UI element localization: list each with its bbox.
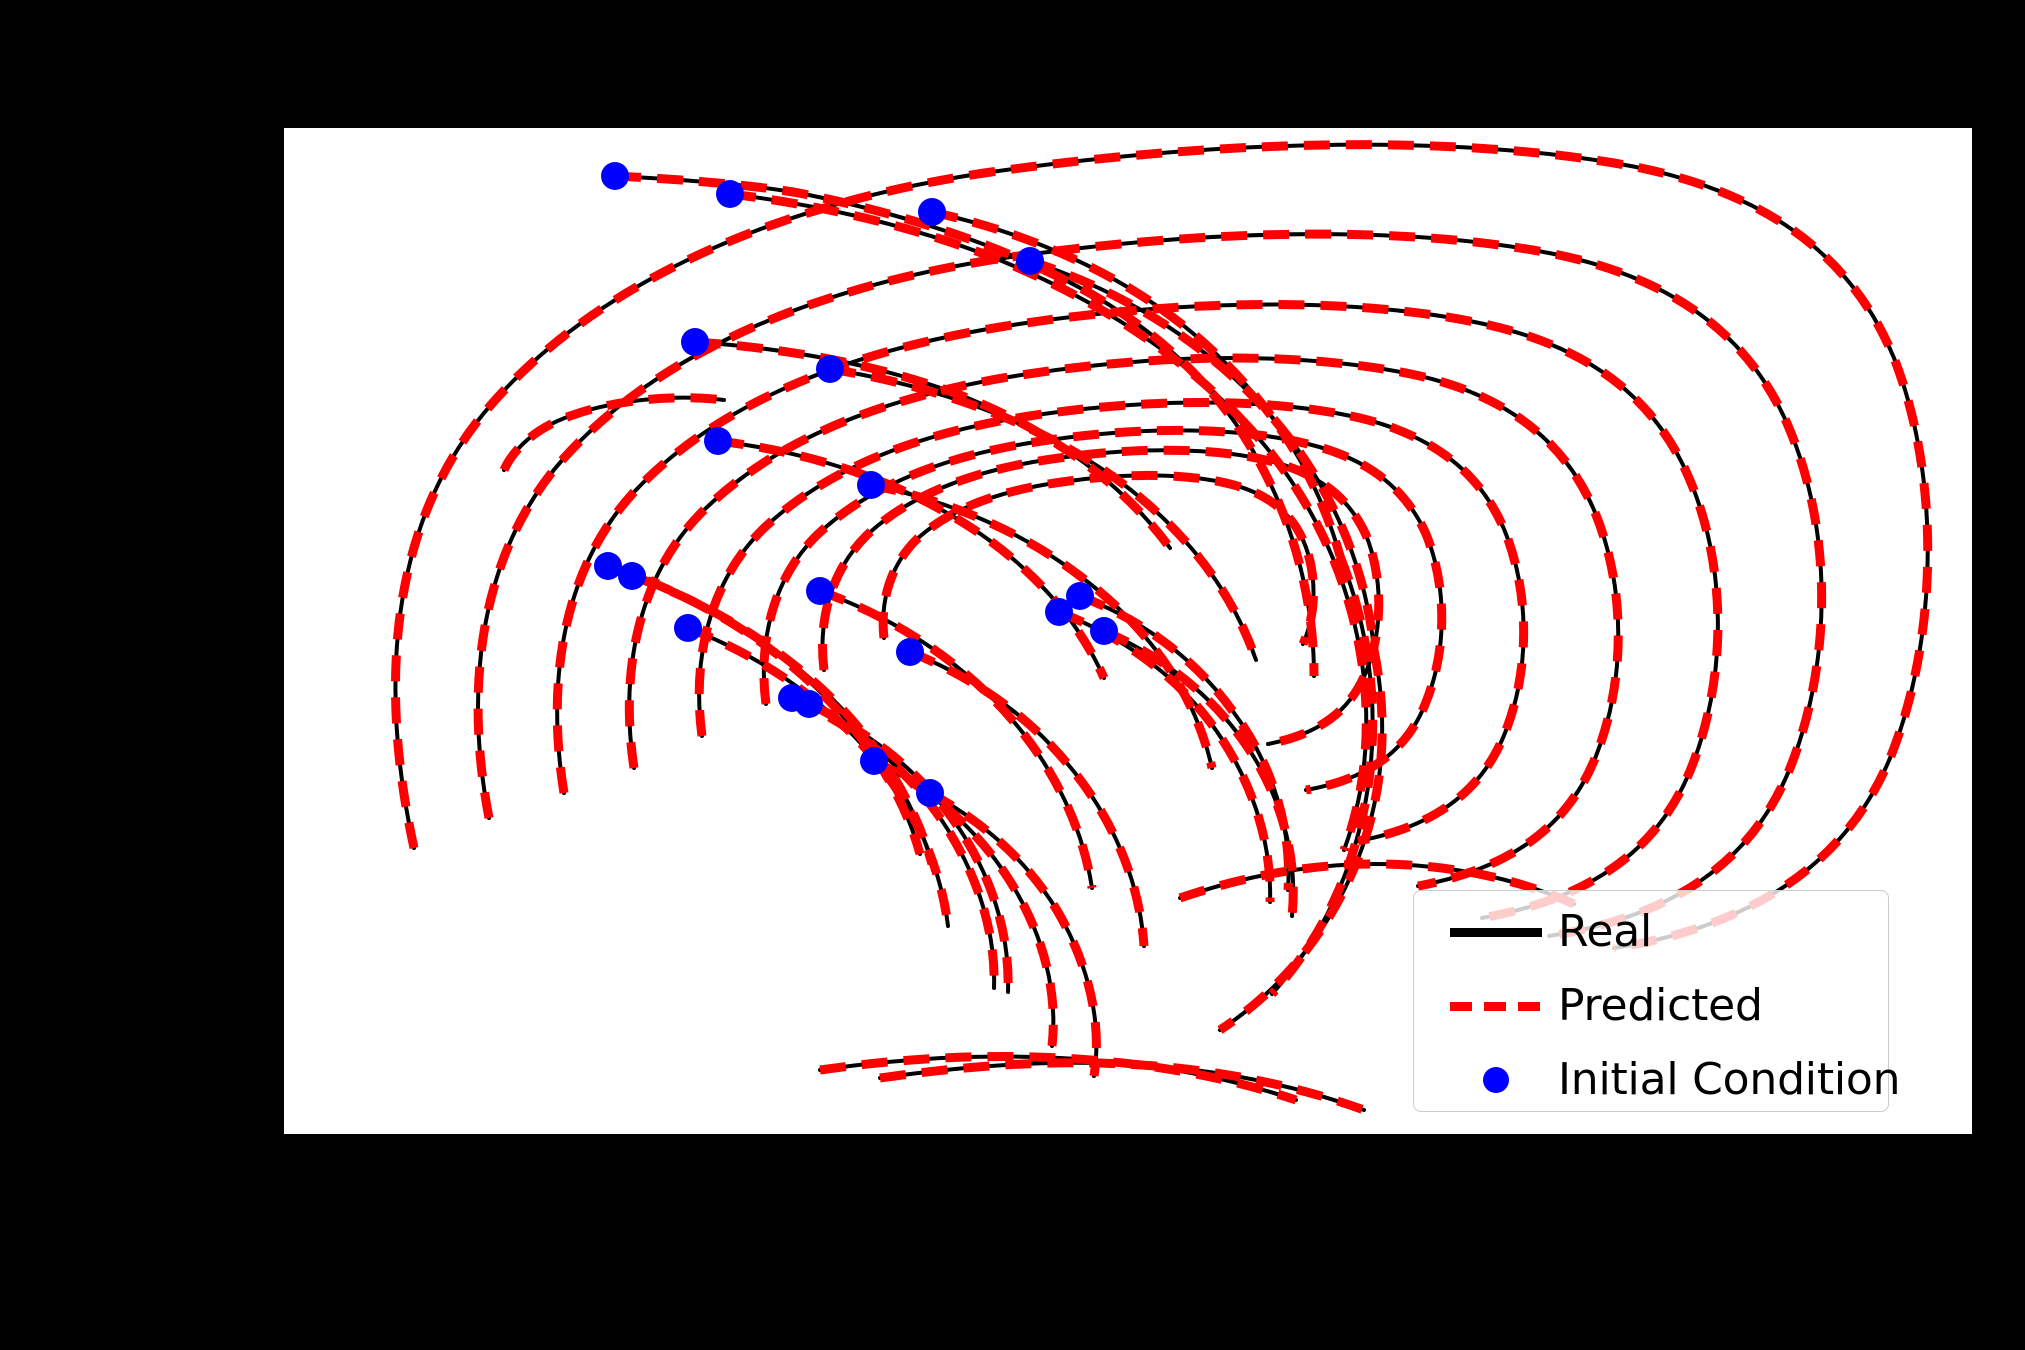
initial-condition-marker [816,355,844,383]
initial-condition-marker [601,162,629,190]
legend-entry-real: Real [1414,895,1888,969]
legend-key-real-line [1434,912,1558,952]
initial-condition-marker [896,638,924,666]
initial-condition-marker [681,328,709,356]
initial-condition-marker [806,577,834,605]
legend-label-real: Real [1558,910,1652,954]
legend-label-initial-condition: Initial Condition [1558,1058,1900,1102]
figure-root: Real Predicted Initial Condition [0,0,2025,1350]
initial-condition-marker [704,427,732,455]
legend-label-predicted: Predicted [1558,984,1763,1028]
dashed-line-icon [1450,1002,1542,1011]
initial-condition-marker [795,690,823,718]
legend-entry-initial-condition: Initial Condition [1414,1043,1888,1117]
initial-condition-marker [594,552,622,580]
initial-condition-marker [916,779,944,807]
initial-condition-marker [918,198,946,226]
initial-condition-marker [1016,247,1044,275]
initial-condition-marker [618,562,646,590]
initial-condition-marker [860,747,888,775]
legend-key-predicted-line [1434,986,1558,1026]
initial-condition-marker [857,471,885,499]
initial-condition-marker [1066,582,1094,610]
legend-entry-predicted: Predicted [1414,969,1888,1043]
initial-condition-marker [1090,617,1118,645]
legend-key-initial-condition-marker [1434,1060,1558,1100]
circle-marker-icon [1483,1067,1509,1093]
legend: Real Predicted Initial Condition [1413,890,1889,1112]
plot-area: Real Predicted Initial Condition [284,128,1972,1134]
initial-condition-marker [674,614,702,642]
solid-line-icon [1450,928,1542,937]
initial-condition-marker [716,180,744,208]
